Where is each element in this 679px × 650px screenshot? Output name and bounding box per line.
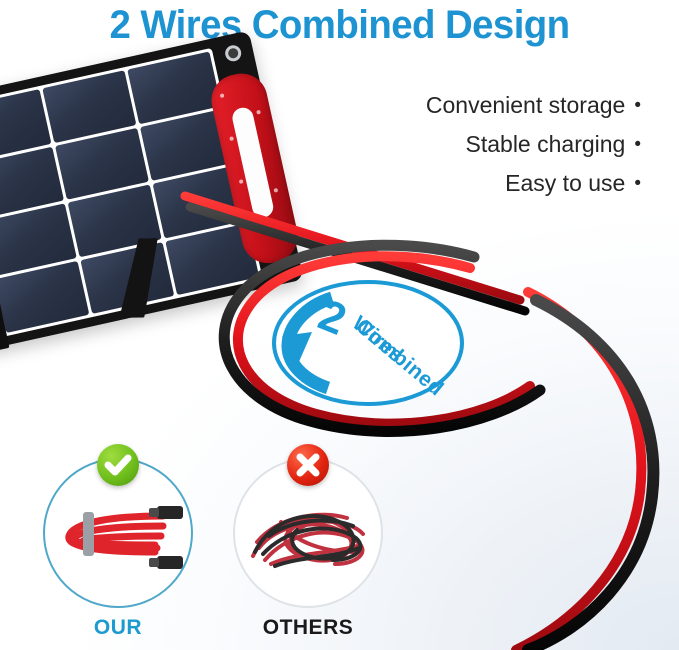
feature-label: Easy to use	[505, 170, 625, 196]
comparison-our: OUR	[43, 458, 193, 640]
feature-label: Stable charging	[466, 131, 626, 157]
green-check-badge-icon	[97, 444, 139, 486]
feature-label: Convenient storage	[426, 92, 625, 118]
feature-item: Easy to use•	[426, 164, 641, 203]
feature-item: Stable charging•	[426, 125, 641, 164]
our-label: OUR	[43, 616, 193, 640]
bullet-icon: •	[634, 87, 641, 125]
feature-item: Convenient storage•	[426, 86, 641, 125]
others-label: OTHERS	[233, 616, 383, 640]
bullet-icon: •	[634, 126, 641, 164]
red-x-badge-icon	[287, 444, 329, 486]
feature-list: Convenient storage• Stable charging• Eas…	[426, 86, 641, 203]
bullet-icon: •	[634, 165, 641, 203]
comparison-others: OTHERS	[233, 458, 383, 640]
two-wires-combined-badge: 2 Wires Combined	[272, 280, 464, 406]
product-feature-graphic: 2 Wires Combined Design	[0, 0, 679, 650]
